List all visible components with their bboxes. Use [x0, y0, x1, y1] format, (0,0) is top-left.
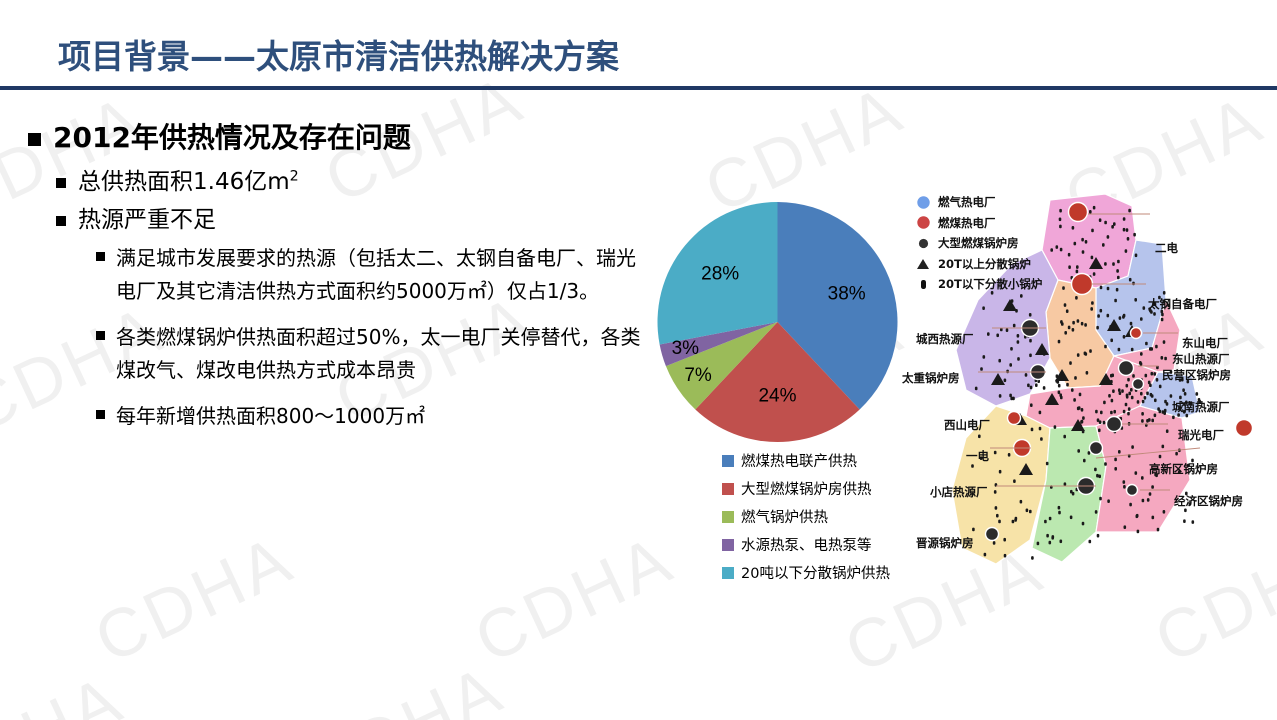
map-small-boiler-dot [1060, 540, 1063, 544]
map-small-boiler-dot [1123, 228, 1126, 232]
pie-legend-item[interactable]: 大型燃煤锅炉房供热 [722, 478, 890, 499]
map-small-boiler-dot [998, 520, 1001, 524]
map-small-boiler-dot [1054, 425, 1057, 429]
map-small-boiler-dot [1090, 307, 1093, 311]
map-small-boiler-dot [1089, 210, 1092, 214]
map-annotation-label: 一电 [966, 448, 989, 464]
map-annotation-label: 经济区锅炉房 [1174, 493, 1243, 509]
map-annotation-label: 民营区锅炉房 [1162, 367, 1231, 383]
map-small-boiler-dot [1135, 471, 1138, 475]
map-small-boiler-dot [1012, 397, 1015, 401]
map-small-boiler-dot [1182, 388, 1185, 392]
map-small-boiler-dot [1037, 542, 1040, 546]
map-small-boiler-dot [1066, 309, 1069, 313]
heating-map: 燃气热电厂燃煤热电厂大型燃煤锅炉房20T以上分散锅炉20T以下分散小锅炉 二电太… [900, 180, 1277, 600]
map-small-boiler-dot [1156, 378, 1159, 382]
map-small-boiler-dot [972, 528, 975, 532]
map-small-boiler-dot [1137, 530, 1140, 534]
map-annotation-label: 高新区锅炉房 [1149, 461, 1218, 477]
map-small-boiler-dot [1110, 339, 1113, 343]
map-small-boiler-dot [1006, 370, 1009, 374]
legend-swatch-icon [722, 567, 734, 579]
map-small-boiler-dot [1124, 525, 1127, 529]
bullet-level2-label: 热源严重不足 [78, 205, 216, 237]
legend-swatch-icon [722, 483, 734, 495]
map-small-boiler-dot [1103, 401, 1106, 405]
map-small-boiler-dot [1006, 328, 1009, 332]
map-small-boiler-dot [1163, 340, 1166, 344]
map-boiler-house-marker [1133, 379, 1144, 390]
map-small-boiler-dot [1072, 328, 1075, 332]
map-small-boiler-dot [1136, 515, 1139, 519]
map-small-boiler-dot [1112, 389, 1115, 393]
map-small-boiler-dot [996, 334, 999, 338]
map-small-boiler-dot [1184, 392, 1187, 396]
map-small-boiler-dot [1035, 383, 1038, 387]
map-small-boiler-dot [1049, 517, 1052, 521]
map-small-boiler-dot [1066, 383, 1069, 387]
map-small-boiler-dot [1126, 228, 1129, 232]
map-small-boiler-dot [1095, 410, 1098, 414]
bullet-level3-annual: 每年新增供热面积800～1000万㎡ [0, 400, 690, 432]
map-small-boiler-dot [1050, 248, 1053, 252]
map-small-boiler-dot [1089, 349, 1092, 353]
map-legend-item[interactable]: 燃煤热电厂 [914, 215, 1042, 231]
map-small-boiler-dot [1154, 414, 1157, 418]
map-small-boiler-dot [1113, 410, 1116, 414]
map-small-boiler-dot [1132, 282, 1135, 286]
map-small-boiler-dot [1196, 392, 1199, 396]
map-small-boiler-dot [1119, 316, 1122, 320]
map-small-boiler-dot [1126, 384, 1129, 388]
map-small-boiler-dot [1131, 396, 1134, 400]
map-small-boiler-dot [1082, 250, 1085, 254]
bullet-square-icon [28, 133, 41, 146]
map-small-boiler-dot [1134, 298, 1137, 302]
map-small-boiler-dot [1049, 541, 1052, 545]
map-small-boiler-dot [1116, 269, 1119, 273]
map-small-boiler-dot [1059, 218, 1062, 222]
map-small-boiler-dot [1013, 479, 1016, 483]
map-small-boiler-dot [1091, 229, 1094, 233]
map-small-boiler-dot [1163, 510, 1166, 514]
map-annotation-label: 二电 [1155, 240, 1178, 256]
map-small-boiler-dot [1130, 322, 1133, 326]
watermark-text: CDHA [83, 520, 305, 679]
map-small-boiler-dot [999, 470, 1002, 474]
map-small-boiler-dot [1027, 384, 1030, 388]
map-small-boiler-dot [1044, 520, 1047, 524]
map-small-boiler-dot [1155, 345, 1158, 349]
small-marker-icon [914, 276, 932, 292]
map-small-boiler-dot [1076, 265, 1079, 269]
map-small-boiler-dot [1100, 286, 1103, 290]
map-small-boiler-dot [1003, 538, 1006, 542]
map-legend-item[interactable]: 20T以上分散锅炉 [914, 256, 1042, 272]
map-annotation-label: 晋源锅炉房 [916, 535, 974, 551]
map-small-boiler-dot [1152, 516, 1155, 520]
pie-legend-label: 燃煤热电联产供热 [741, 450, 857, 471]
pie-legend-label: 水源热泵、电热泵等 [741, 534, 872, 555]
map-power-plant-marker [1131, 328, 1142, 339]
map-small-boiler-dot [1098, 475, 1101, 479]
map-small-boiler-dot [1029, 510, 1032, 514]
map-small-boiler-dot [1123, 485, 1126, 489]
map-small-boiler-dot [980, 367, 983, 371]
map-small-boiler-dot [1083, 459, 1086, 463]
map-small-boiler-dot [978, 435, 981, 439]
map-small-boiler-dot [1068, 253, 1071, 257]
map-small-boiler-dot [1110, 411, 1113, 415]
map-small-boiler-dot [1127, 237, 1130, 241]
map-small-boiler-dot [1026, 509, 1029, 513]
map-small-boiler-dot [1100, 309, 1103, 313]
map-small-boiler-dot [1051, 536, 1054, 540]
map-small-boiler-dot [1164, 357, 1167, 361]
map-small-boiler-dot [1072, 226, 1075, 230]
map-legend-label: 燃气热电厂 [938, 194, 996, 210]
map-small-boiler-dot [1029, 313, 1032, 317]
map-small-boiler-dot [1153, 372, 1156, 376]
map-small-boiler-dot [984, 553, 987, 557]
map-annotation-label: 城西热源厂 [916, 331, 974, 347]
map-small-boiler-dot [1118, 450, 1121, 454]
map-small-boiler-dot [1183, 519, 1186, 523]
map-small-boiler-dot [1137, 400, 1140, 404]
map-small-boiler-dot [1140, 317, 1143, 321]
map-small-boiler-dot [1046, 534, 1049, 538]
black-circle-icon [914, 235, 932, 251]
map-small-boiler-dot [1131, 445, 1134, 449]
map-small-boiler-dot [1123, 410, 1126, 414]
map-small-boiler-dot [1151, 394, 1154, 398]
pie-slice-label: 38% [828, 284, 866, 305]
map-legend-label: 20T以下分散小锅炉 [938, 276, 1042, 292]
map-small-boiler-dot [1117, 276, 1120, 280]
map-small-boiler-dot [1095, 510, 1098, 514]
map-small-boiler-dot [982, 306, 985, 310]
bullet-heading: 2012年供热情况及存在问题 [0, 120, 690, 157]
map-small-boiler-dot [1072, 321, 1075, 325]
map-small-boiler-dot [999, 394, 1002, 398]
map-small-boiler-dot [1107, 287, 1110, 291]
bullet-square-icon [56, 178, 66, 188]
map-small-boiler-dot [1131, 348, 1134, 352]
map-small-boiler-dot [1128, 407, 1131, 411]
title-divider [0, 86, 1277, 90]
map-annotation-label: 瑞光电厂 [1178, 427, 1224, 443]
map-small-boiler-dot [1009, 363, 1012, 367]
map-small-boiler-dot [1009, 394, 1012, 398]
map-small-boiler-dot [1071, 388, 1074, 392]
map-small-boiler-dot [1030, 403, 1033, 407]
map-boiler-house-marker [1127, 485, 1138, 496]
map-small-boiler-dot [1063, 435, 1066, 439]
map-small-boiler-dot [1146, 392, 1149, 396]
map-small-boiler-dot [1159, 410, 1162, 414]
map-small-boiler-dot [1031, 428, 1034, 432]
map-small-boiler-dot [1017, 357, 1020, 361]
map-small-boiler-dot [1039, 427, 1042, 431]
map-small-boiler-dot [1004, 379, 1007, 383]
map-small-boiler-dot [1082, 416, 1085, 420]
map-small-boiler-dot [1081, 238, 1084, 242]
map-small-boiler-dot [1076, 270, 1079, 274]
map-small-boiler-dot [1059, 393, 1062, 397]
map-small-boiler-dot [1029, 339, 1032, 343]
red-circle-icon [914, 215, 932, 231]
map-small-boiler-dot [1172, 416, 1175, 420]
bullet-level3-coal: 各类燃煤锅炉供热面积超过50%，太一电厂关停替代，各类煤改气、煤改电供热方式成本… [0, 321, 690, 386]
map-small-boiler-dot [995, 506, 998, 510]
map-small-boiler-dot [1121, 389, 1124, 393]
map-small-boiler-dot [1140, 352, 1143, 356]
map-small-boiler-dot [1133, 233, 1136, 237]
bullet-level3-label: 满足城市发展要求的热源（包括太二、太钢自备电厂、瑞光电厂及其它清洁供热方式面积约… [116, 242, 641, 307]
watermark-text: CDHA [293, 650, 515, 720]
map-small-boiler-dot [1097, 314, 1100, 318]
bullet-heading-label: 2012年供热情况及存在问题 [53, 120, 411, 157]
map-small-boiler-dot [1142, 400, 1145, 404]
map-legend-item[interactable]: 20T以下分散小锅炉 [914, 276, 1042, 292]
map-small-boiler-dot [1164, 400, 1167, 404]
map-small-boiler-dot [1108, 394, 1111, 398]
map-small-boiler-dot [1132, 374, 1135, 378]
map-small-boiler-dot [1064, 331, 1067, 335]
map-small-boiler-dot [1148, 418, 1151, 422]
map-small-boiler-dot [1081, 408, 1084, 412]
map-small-boiler-dot [1107, 499, 1110, 503]
map-small-boiler-dot [1153, 312, 1156, 316]
map-legend-label: 大型燃煤锅炉房 [938, 235, 1019, 251]
map-small-boiler-dot [1064, 303, 1067, 307]
map-small-boiler-dot [1074, 376, 1077, 380]
map-small-boiler-dot [1151, 372, 1154, 376]
map-small-boiler-dot [1141, 419, 1144, 423]
map-small-boiler-dot [1145, 374, 1148, 378]
map-small-boiler-dot [1081, 322, 1084, 326]
map-small-boiler-dot [1099, 218, 1102, 222]
pie-legend-item[interactable]: 燃煤热电联产供热 [722, 450, 890, 471]
pie-legend-item[interactable]: 燃气锅炉供热 [722, 506, 890, 527]
map-small-boiler-dot [1099, 497, 1102, 501]
map-small-boiler-dot [1113, 222, 1116, 226]
map-small-boiler-dot [1192, 520, 1195, 524]
map-small-boiler-dot [1130, 388, 1133, 392]
map-small-boiler-dot [1126, 394, 1129, 398]
map-small-boiler-dot [1046, 462, 1049, 466]
map-small-boiler-dot [1010, 347, 1013, 351]
map-small-boiler-dot [1125, 249, 1128, 253]
map-small-boiler-dot [1162, 445, 1165, 449]
map-small-boiler-dot [1008, 453, 1011, 457]
map-small-boiler-dot [1030, 386, 1033, 390]
map-small-boiler-dot [1004, 554, 1007, 558]
map-small-boiler-dot [1144, 396, 1147, 400]
map-small-boiler-dot [1058, 384, 1061, 388]
map-annotation-label: 东山热源厂 [1172, 351, 1230, 367]
bullet-square-icon [56, 216, 66, 226]
map-small-boiler-dot [987, 332, 990, 336]
map-small-boiler-dot [1119, 391, 1122, 395]
map-small-boiler-dot [1082, 522, 1085, 526]
bullet-level2-label: 总供热面积1.46亿m2 [78, 167, 299, 199]
legend-swatch-icon [722, 539, 734, 551]
map-small-boiler-dot [1104, 262, 1107, 266]
map-small-boiler-dot [1073, 398, 1076, 402]
legend-swatch-icon [722, 511, 734, 523]
map-small-boiler-dot [1141, 412, 1144, 416]
map-small-boiler-dot [1093, 206, 1096, 210]
map-small-boiler-dot [1077, 449, 1080, 453]
map-small-boiler-dot [1141, 476, 1144, 480]
map-small-boiler-dot [1161, 313, 1164, 317]
map-small-boiler-dot [1145, 342, 1148, 346]
map-small-boiler-dot [1096, 474, 1099, 478]
map-small-boiler-dot [1058, 340, 1061, 344]
pie-legend-label: 燃气锅炉供热 [741, 506, 828, 527]
pie-legend-label: 20吨以下分散锅炉供热 [741, 562, 890, 583]
map-small-boiler-dot [1102, 243, 1105, 247]
map-small-boiler-dot [1151, 419, 1154, 423]
map-small-boiler-dot [1151, 485, 1154, 489]
map-small-boiler-dot [1091, 301, 1094, 305]
map-small-boiler-dot [1123, 480, 1126, 484]
map-small-boiler-dot [1029, 354, 1032, 358]
map-legend-label: 燃煤热电厂 [938, 215, 996, 231]
map-small-boiler-dot [1058, 506, 1061, 510]
map-small-boiler-dot [1161, 318, 1164, 322]
map-small-boiler-dot [1084, 352, 1087, 356]
map-small-boiler-dot [1020, 500, 1023, 504]
map-small-boiler-dot [1114, 458, 1117, 462]
pie-slice-label: 28% [701, 264, 739, 285]
map-small-boiler-dot [1084, 323, 1087, 327]
map-small-boiler-dot [1143, 306, 1146, 310]
map-small-boiler-dot [1129, 503, 1132, 507]
map-small-boiler-dot [998, 359, 1001, 363]
map-small-boiler-dot [1128, 209, 1131, 213]
map-small-boiler-dot [1080, 420, 1083, 424]
map-small-boiler-dot [1098, 429, 1101, 433]
watermark-text: CDHA [0, 660, 135, 720]
map-small-boiler-dot [1039, 411, 1042, 415]
map-small-boiler-dot [996, 514, 999, 518]
map-small-boiler-dot [1089, 540, 1092, 544]
bullet-level3-label: 各类燃煤锅炉供热面积超过50%，太一电厂关停替代，各类煤改气、煤改电供热方式成本… [116, 321, 641, 386]
map-small-boiler-dot [1064, 482, 1067, 486]
bullet-level2-area: 总供热面积1.46亿m2 [0, 167, 690, 199]
map-power-plant-marker [1069, 203, 1088, 222]
map-legend-item[interactable]: 大型燃煤锅炉房 [914, 235, 1042, 251]
map-small-boiler-dot [994, 490, 997, 494]
map-small-boiler-dot [1075, 296, 1078, 300]
map-annotation-label: 东山电厂 [1182, 335, 1228, 351]
pie-slice-label: 3% [672, 338, 700, 359]
map-small-boiler-dot [1166, 429, 1169, 433]
map-small-boiler-dot [1085, 240, 1088, 244]
map-small-boiler-dot [1159, 455, 1162, 459]
pie-slice-label: 24% [758, 385, 796, 406]
pie-chart: 38%24%7%3%28% [650, 198, 910, 453]
map-small-boiler-dot [1135, 254, 1138, 258]
map-small-boiler-dot [1060, 320, 1063, 324]
bullet-level3-sources: 满足城市发展要求的热源（包括太二、太钢自备电厂、瑞光电厂及其它清洁供热方式面积约… [0, 242, 690, 307]
map-small-boiler-dot [1097, 534, 1100, 538]
map-small-boiler-dot [1012, 520, 1015, 524]
map-small-boiler-dot [1114, 467, 1117, 471]
map-small-boiler-dot [983, 355, 986, 359]
map-small-boiler-dot [1014, 518, 1017, 522]
map-small-boiler-dot [1068, 326, 1071, 330]
map-small-boiler-dot [993, 541, 996, 545]
map-small-boiler-dot [1123, 335, 1126, 339]
map-power-plant-marker [1008, 412, 1021, 425]
bullet-square-icon [96, 331, 105, 340]
map-small-boiler-dot [1140, 392, 1143, 396]
pie-legend-label: 大型燃煤锅炉房供热 [741, 478, 872, 499]
map-small-boiler-dot [1074, 242, 1077, 246]
map-small-boiler-dot [1123, 314, 1126, 318]
map-small-boiler-dot [1129, 278, 1132, 282]
map-small-boiler-dot [975, 387, 978, 391]
map-small-boiler-dot [1161, 356, 1164, 360]
map-small-boiler-dot [1170, 394, 1173, 398]
map-small-boiler-dot [1154, 399, 1157, 403]
map-small-boiler-dot [1149, 384, 1152, 388]
map-small-boiler-dot [1099, 420, 1102, 424]
map-small-boiler-dot [1060, 248, 1063, 252]
map-small-boiler-dot [1077, 353, 1080, 357]
map-small-boiler-dot [1123, 217, 1126, 221]
map-small-boiler-dot [1040, 437, 1043, 441]
triangle-icon [914, 256, 932, 272]
content-body: 2012年供热情况及存在问题 总供热面积1.46亿m2 热源严重不足 满足城市发… [0, 120, 690, 446]
map-small-boiler-dot [1068, 265, 1071, 269]
map-small-boiler-dot [1117, 260, 1120, 264]
map-small-boiler-dot [1107, 314, 1110, 318]
map-small-boiler-dot [1111, 399, 1114, 403]
map-boiler-house-marker [1090, 442, 1103, 455]
map-small-boiler-dot [1079, 393, 1082, 397]
bullet-level3-label: 每年新增供热面积800～1000万㎡ [116, 400, 641, 432]
map-small-boiler-dot [1062, 286, 1065, 290]
map-small-boiler-dot [1162, 410, 1165, 414]
pie-legend-item[interactable]: 水源热泵、电热泵等 [722, 534, 890, 555]
map-small-boiler-dot [1159, 385, 1162, 389]
map-power-plant-marker [1072, 274, 1093, 295]
map-small-boiler-dot [1031, 556, 1034, 560]
map-legend-item[interactable]: 燃气热电厂 [914, 194, 1042, 210]
map-small-boiler-dot [1114, 299, 1117, 303]
map-small-boiler-dot [1184, 509, 1187, 513]
map-small-boiler-dot [1147, 498, 1150, 502]
pie-legend-item[interactable]: 20吨以下分散锅炉供热 [722, 562, 890, 583]
map-small-boiler-dot [1017, 334, 1020, 338]
map-small-boiler-dot [1091, 256, 1094, 260]
map-small-boiler-dot [1056, 245, 1059, 249]
map-small-boiler-dot [1059, 209, 1062, 213]
map-small-boiler-dot [1127, 378, 1130, 382]
map-small-boiler-dot [1058, 511, 1061, 515]
bullet-square-icon [96, 252, 105, 261]
map-small-boiler-dot [1127, 412, 1130, 416]
map-small-boiler-dot [1175, 452, 1178, 456]
watermark-text: CDHA [463, 520, 685, 679]
map-small-boiler-dot [1104, 345, 1107, 349]
map-small-boiler-dot [1104, 462, 1107, 466]
map-small-boiler-dot [1107, 235, 1110, 239]
